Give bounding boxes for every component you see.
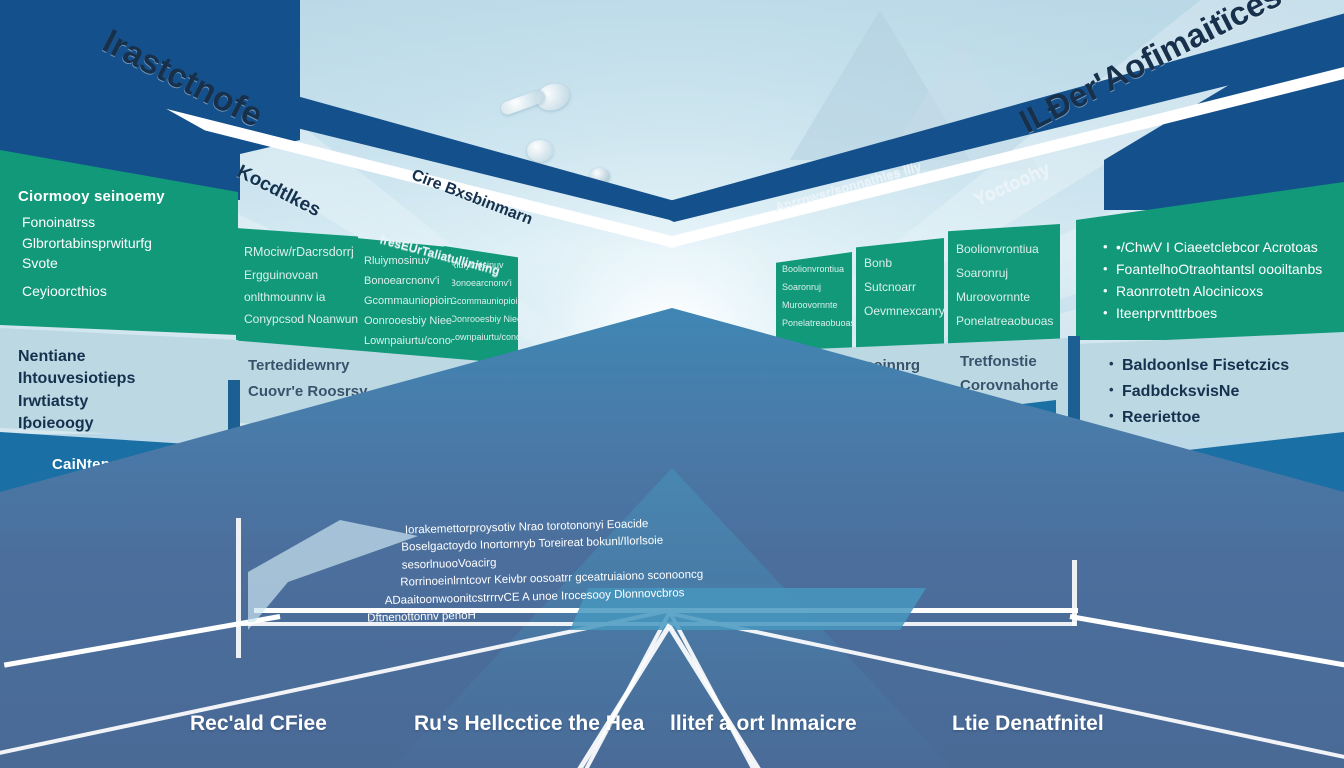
left-inner-col2-green-line-3: Oonrooesbiy Nieeo — [364, 314, 452, 328]
right-inner-green-a-line-1: Soaronruj — [782, 282, 821, 294]
right-inner-green-a-line-0: Boolionvrontiua — [782, 264, 844, 276]
list-item: Baldoonlse Fisetczics — [1122, 354, 1326, 378]
left-inner-col2-green-line-1: Bonoearcnonv'i — [364, 274, 440, 288]
left-inner-col3-line-4: Lownpaiurtu/conoo — [450, 332, 518, 344]
left-panel-pale: Nentiane Ihtouvesiotieps Irwtiatsty Iƥoi… — [0, 328, 238, 440]
list-item: Raonrrotetn Alocinicoxs — [1116, 282, 1326, 302]
left-inner-col2-green-line-2: Gcommauniopioin — [364, 294, 452, 308]
left-inner-col2-green-line-4: Lownpaiurtu/conoo — [364, 334, 452, 348]
right-inner-green-c-line-1: Soaronruj — [956, 266, 1008, 282]
floor-label-1: Rec'ald CFiee — [190, 712, 327, 736]
right-panel-green-list: •/ChwV I Ciaeetclebcor Acrotoas Foantelh… — [1102, 238, 1326, 324]
list-item: Iteenprvnttrboes — [1116, 304, 1326, 324]
left-inner-col1-green-line-2: Conypcsod Noanwunew — [244, 312, 358, 328]
left-inner-col3-line-2: Gcommauniopioin — [450, 296, 518, 308]
left-panel-green-line-0: Fonoinatrss — [22, 212, 220, 232]
floor-label-4: Ltie Denatfnitel — [952, 712, 1104, 736]
left-panel-green-line-3: Ceyioorcthios — [22, 281, 220, 301]
right-inner-green-c-line-3: Ponelatreaobuoas — [956, 314, 1053, 330]
floor-paragraph: Iorakemettorproysotiv Nrao torotononyi E… — [397, 513, 760, 627]
right-panel-pale: Baldoonlse Fisetczics FadbdcksvisNe Reer… — [1076, 332, 1344, 442]
left-inner-col1-green-title: RMociw/rDacrsdorrj — [244, 244, 354, 260]
left-panel-green-title: Ciormooy seinoemy — [18, 188, 220, 205]
list-item: FadbdcksvisNe — [1122, 380, 1326, 404]
left-panel-pale-title: Nentiane — [18, 346, 220, 368]
right-panel-pale-list: Baldoonlse Fisetczics FadbdcksvisNe Reer… — [1108, 354, 1326, 430]
right-inner-green-b-line-0: Bonb — [864, 256, 892, 272]
right-inner-green-a-line-2: Muroovornnte — [782, 300, 838, 312]
right-inner-green-a-line-3: Ponelatreaobuoas — [782, 318, 852, 330]
left-panel-pale-line-0: Ihtouvesiotieps — [18, 368, 220, 390]
list-item: FoantelhoOtraohtantsl oooiltanbs — [1116, 260, 1326, 280]
frame-vertical-left — [236, 518, 241, 658]
left-inner-col1-green-line-1: onlthmounnv ia — [244, 290, 325, 306]
infographic-perspective-scene: se-ROUL OSAEKBv Ivesciav IKeok Rluiymosi… — [0, 0, 1344, 768]
left-inner-pale-title: Tertedidewnry — [248, 356, 349, 376]
left-inner-col1-green-line-0: Ergguinovoan — [244, 268, 318, 284]
left-panel-green-line-1: Glbrortabinsprwiturfg — [22, 233, 220, 253]
list-item: •/ChwV I Ciaeetclebcor Acrotoas — [1116, 238, 1326, 258]
right-inner-pale-b-title: Tretfonstie — [960, 352, 1037, 372]
right-inner-green-c-line-2: Muroovornnte — [956, 290, 1030, 306]
list-item: Reeriettoe — [1122, 406, 1326, 430]
left-inner-col3-line-3: Oonrooesbiy Nieeo — [450, 314, 518, 326]
left-panel-green-line-2: Svote — [22, 253, 220, 273]
right-inner-green-c-line-0: Boolionvrontiua — [956, 242, 1039, 258]
left-panel-pale-line-1: Irwtiatsty — [18, 391, 220, 413]
left-inner-col3-line-1: Bonoearcnonv'i — [450, 278, 512, 290]
right-inner-green-b-line-2: Oevmnexcanryg — [864, 304, 944, 320]
floor-label-3: llitef a ort lnmaicre — [670, 712, 857, 736]
right-inner-green-b-line-1: Sutcnoarr — [864, 280, 916, 296]
frame-vertical-right — [1072, 560, 1077, 626]
